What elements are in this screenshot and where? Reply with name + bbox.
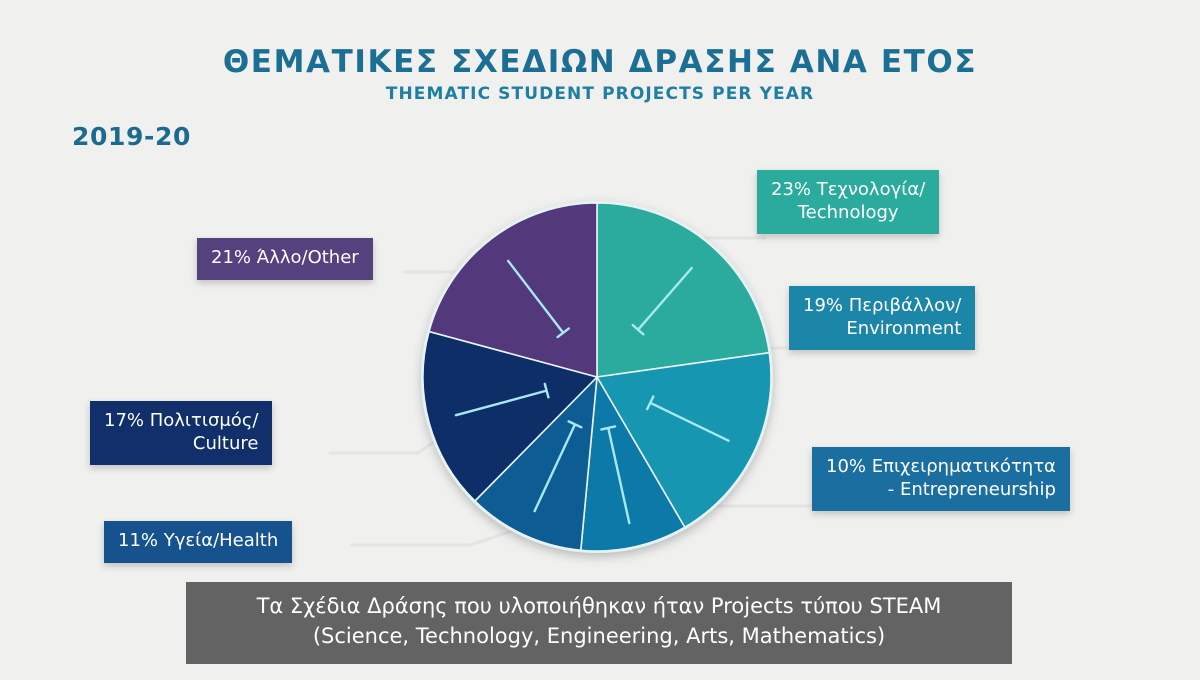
callout-other-line1: 21% Άλλο/Other	[211, 247, 359, 270]
callout-technology-line2: Technology	[771, 202, 925, 225]
callout-technology[interactable]: 23% Τεχνολογία/ Technology	[757, 170, 939, 234]
callout-culture-line2: Culture	[104, 433, 258, 456]
pie-chart	[0, 0, 1200, 680]
callout-entrepreneurship-line2: - Entrepreneurship	[826, 479, 1056, 502]
footer-caption: Τα Σχέδια Δράσης που υλοποιήθηκαν ήταν P…	[186, 582, 1012, 664]
callout-entrepreneurship-line1: 10% Επιχειρηματικότητα	[826, 456, 1056, 479]
callout-environment-line1: 19% Περιβάλλον/	[803, 295, 961, 318]
callout-culture[interactable]: 17% Πολιτισμός/ Culture	[90, 401, 272, 465]
pie-slice[interactable]	[597, 203, 769, 377]
callout-other[interactable]: 21% Άλλο/Other	[197, 238, 373, 280]
callout-culture-line1: 17% Πολιτισμός/	[104, 410, 258, 433]
callout-health[interactable]: 11% Υγεία/Health	[104, 521, 292, 563]
callout-environment[interactable]: 19% Περιβάλλον/ Environment	[789, 286, 975, 350]
callout-health-line1: 11% Υγεία/Health	[118, 530, 278, 553]
callout-technology-line1: 23% Τεχνολογία/	[771, 179, 925, 202]
caption-line2: (Science, Technology, Engineering, Arts,…	[196, 622, 1002, 652]
callout-entrepreneurship[interactable]: 10% Επιχειρηματικότητα - Entrepreneurshi…	[812, 447, 1070, 511]
callout-environment-line2: Environment	[803, 318, 961, 341]
slide-canvas: ΘΕΜΑΤΙΚΕΣ ΣΧΕΔΙΩΝ ΔΡΑΣΗΣ ΑΝΑ ΕΤΟΣ THEMAT…	[0, 0, 1200, 680]
pie-slices	[421, 201, 773, 553]
caption-line1: Τα Σχέδια Δράσης που υλοποιήθηκαν ήταν P…	[196, 592, 1002, 622]
